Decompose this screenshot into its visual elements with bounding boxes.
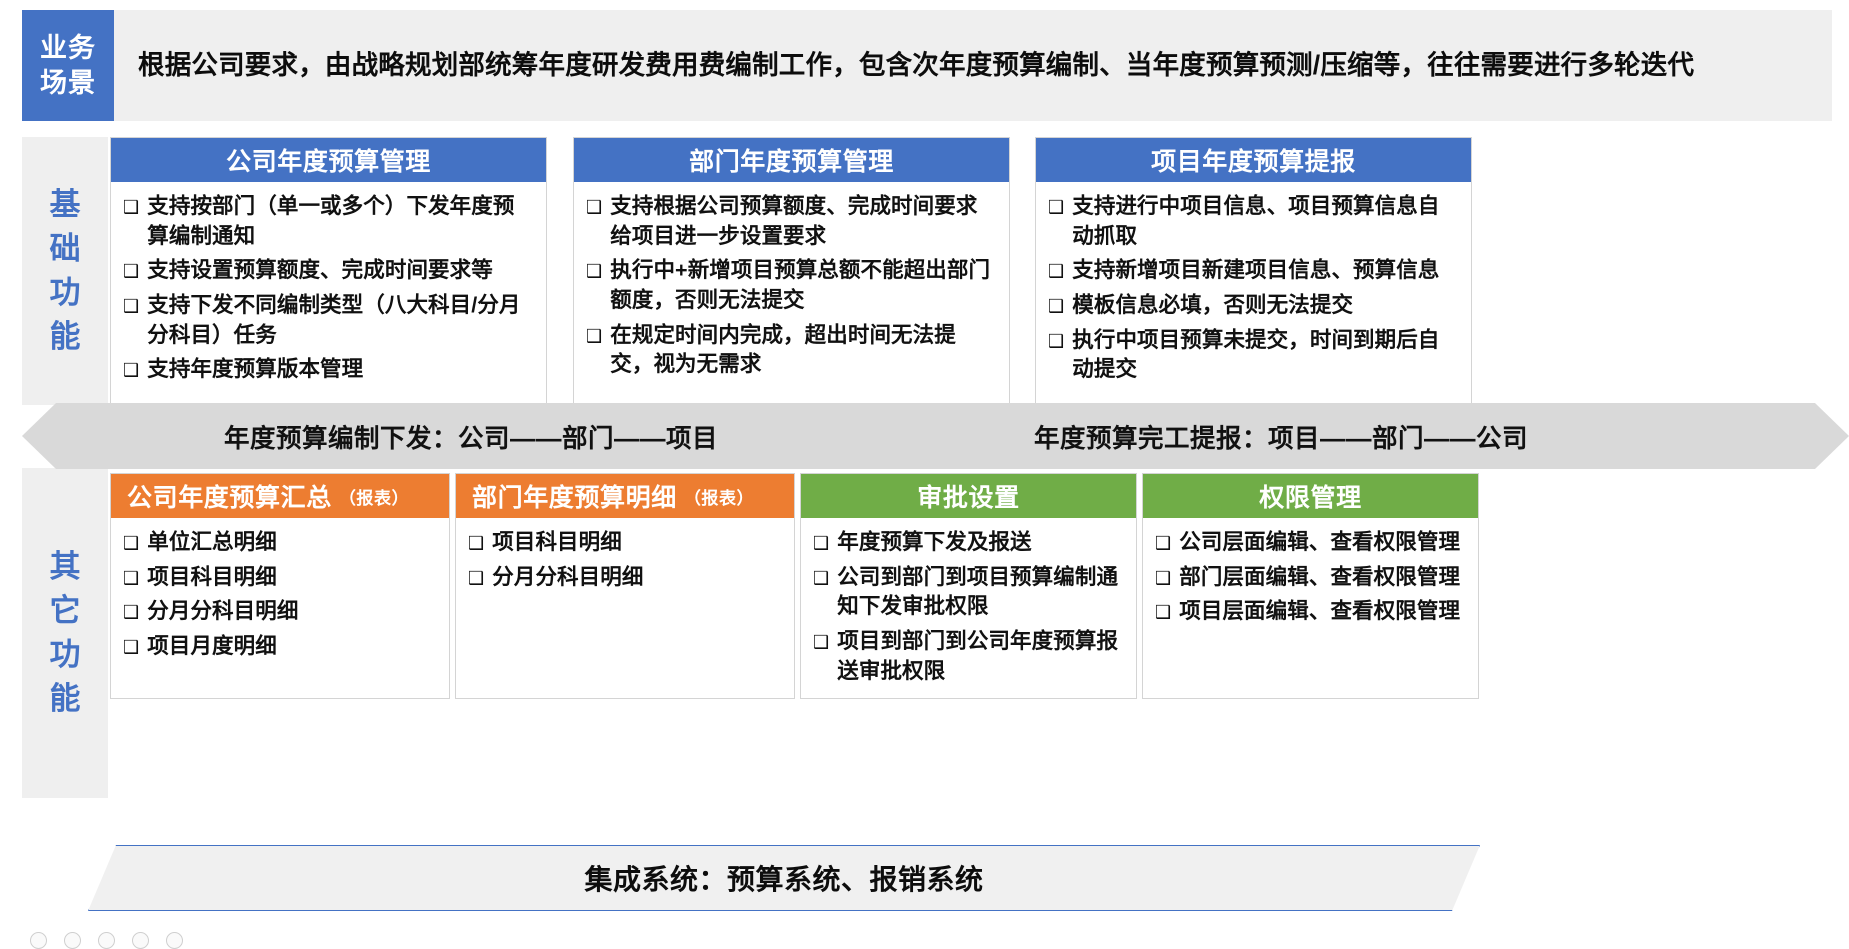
list-item-label: 项目到部门到公司年度预算报送审批权限	[837, 627, 1124, 686]
list-item: ❑ 年度预算下发及报送	[813, 528, 1124, 558]
rail-basic-char-2: 功	[50, 271, 81, 315]
scenario-description: 根据公司要求，由战略规划部统筹年度研发费用费编制工作，包含次年度预算编制、当年度…	[114, 10, 1832, 121]
checkbox-icon: ❑	[1048, 258, 1064, 285]
checkbox-icon: ❑	[468, 530, 484, 557]
checkbox-icon: ❑	[123, 194, 139, 221]
card-project-title: 项目年度预算提报	[1036, 138, 1471, 182]
checkbox-icon: ❑	[468, 565, 484, 592]
banner-label: 集成系统：预算系统、报销系统	[88, 845, 1480, 911]
list-item: ❑ 支持新增项目新建项目信息、预算信息	[1048, 256, 1459, 286]
list-item-label: 公司到部门到项目预算编制通知下发审批权限	[837, 563, 1124, 622]
scenario-tag-line2: 场景	[40, 66, 96, 101]
list-item-label: 分月分科目明细	[147, 597, 437, 627]
rail-basic-char-3: 能	[50, 315, 81, 359]
rail-other-char-1: 它	[50, 589, 81, 633]
checkbox-icon: ❑	[586, 323, 602, 350]
list-item-label: 支持按部门（单一或多个）下发年度预算编制通知	[147, 192, 534, 251]
list-item: ❑ 执行中项目预算未提交，时间到期后自动提交	[1048, 326, 1459, 385]
process-flow-arrow-band: 年度预算编制下发：公司——部门——项目 年度预算完工提报：项目——部门——公司	[22, 403, 1849, 469]
card-permission-management: 权限管理 ❑ 公司层面编辑、查看权限管理 ❑ 部门层面编辑、查看权限管理 ❑ 项…	[1142, 473, 1479, 699]
decorative-dot	[98, 932, 115, 949]
card-company-report-title: 公司年度预算汇总	[127, 478, 332, 514]
list-item: ❑ 单位汇总明细	[123, 528, 437, 558]
card-department-title: 部门年度预算管理	[574, 138, 1009, 182]
rail-other-functions: 其 它 功 能	[22, 468, 108, 798]
arrow-label-upstream: 年度预算完工提报：项目——部门——公司	[1034, 403, 1528, 469]
card-company-budget-summary-report: 公司年度预算汇总 （报表） ❑ 单位汇总明细 ❑ 项目科目明细 ❑ 分月分科目明…	[110, 473, 450, 699]
list-item: ❑ 分月分科目明细	[468, 563, 782, 593]
checkbox-icon: ❑	[813, 565, 829, 592]
list-item: ❑ 项目科目明细	[123, 563, 437, 593]
checkbox-icon: ❑	[1155, 599, 1171, 626]
list-item-label: 支持设置预算额度、完成时间要求等	[147, 256, 534, 286]
arrow-label-downstream: 年度预算编制下发：公司——部门——项目	[224, 403, 718, 469]
checkbox-icon: ❑	[1155, 565, 1171, 592]
list-item-label: 部门层面编辑、查看权限管理	[1179, 563, 1466, 593]
list-item: ❑ 支持年度预算版本管理	[123, 355, 534, 385]
list-item: ❑ 公司层面编辑、查看权限管理	[1155, 528, 1466, 558]
list-item: ❑ 模板信息必填，否则无法提交	[1048, 291, 1459, 321]
decorative-dot	[30, 932, 47, 949]
list-item-label: 单位汇总明细	[147, 528, 437, 558]
card-approval-settings: 审批设置 ❑ 年度预算下发及报送 ❑ 公司到部门到项目预算编制通知下发审批权限 …	[800, 473, 1137, 699]
list-item: ❑ 支持进行中项目信息、项目预算信息自动抓取	[1048, 192, 1459, 251]
list-item: ❑ 支持按部门（单一或多个）下发年度预算编制通知	[123, 192, 534, 251]
card-project-bullet-list: ❑ 支持进行中项目信息、项目预算信息自动抓取 ❑ 支持新增项目新建项目信息、预算…	[1036, 182, 1471, 404]
decorative-dots	[30, 932, 183, 949]
card-department-report-bullet-list: ❑ 项目科目明细 ❑ 分月分科目明细	[456, 518, 794, 698]
scenario-tag-line1: 业务	[40, 31, 96, 66]
list-item: ❑ 公司到部门到项目预算编制通知下发审批权限	[813, 563, 1124, 622]
list-item: ❑ 项目到部门到公司年度预算报送审批权限	[813, 627, 1124, 686]
list-item: ❑ 支持根据公司预算额度、完成时间要求给项目进一步设置要求	[586, 192, 997, 251]
list-item: ❑ 分月分科目明细	[123, 597, 437, 627]
list-item-label: 分月分科目明细	[492, 563, 782, 593]
card-company-report-title-bar: 公司年度预算汇总 （报表）	[111, 474, 449, 518]
rail-other-char-2: 功	[50, 633, 81, 677]
list-item: ❑ 部门层面编辑、查看权限管理	[1155, 563, 1466, 593]
card-company-report-bullet-list: ❑ 单位汇总明细 ❑ 项目科目明细 ❑ 分月分科目明细 ❑ 项目月度明细	[111, 518, 449, 698]
checkbox-icon: ❑	[1048, 194, 1064, 221]
rail-other-char-0: 其	[50, 545, 81, 589]
list-item-label: 项目层面编辑、查看权限管理	[1179, 597, 1466, 627]
scenario-tag: 业务 场景	[22, 10, 114, 121]
card-company-report-subtitle: （报表）	[339, 484, 409, 509]
checkbox-icon: ❑	[123, 599, 139, 626]
card-company-title: 公司年度预算管理	[111, 138, 546, 182]
decorative-dot	[132, 932, 149, 949]
card-permission-title: 权限管理	[1143, 474, 1478, 518]
card-permission-bullet-list: ❑ 公司层面编辑、查看权限管理 ❑ 部门层面编辑、查看权限管理 ❑ 项目层面编辑…	[1143, 518, 1478, 698]
rail-basic-functions: 基 础 功 能	[22, 137, 108, 405]
checkbox-icon: ❑	[1155, 530, 1171, 557]
checkbox-icon: ❑	[1048, 328, 1064, 355]
rail-other-char-3: 能	[50, 677, 81, 721]
list-item-label: 在规定时间内完成，超出时间无法提交，视为无需求	[610, 321, 997, 380]
integrated-systems-banner: 集成系统：预算系统、报销系统	[88, 845, 1480, 911]
checkbox-icon: ❑	[123, 530, 139, 557]
list-item-label: 支持下发不同编制类型（八大科目/分月分科目）任务	[147, 291, 534, 350]
checkbox-icon: ❑	[813, 530, 829, 557]
checkbox-icon: ❑	[586, 258, 602, 285]
list-item: ❑ 项目月度明细	[123, 632, 437, 662]
card-department-report-title-bar: 部门年度预算明细 （报表）	[456, 474, 794, 518]
card-company-bullet-list: ❑ 支持按部门（单一或多个）下发年度预算编制通知 ❑ 支持设置预算额度、完成时间…	[111, 182, 546, 404]
list-item: ❑ 执行中+新增项目预算总额不能超出部门额度，否则无法提交	[586, 256, 997, 315]
checkbox-icon: ❑	[586, 194, 602, 221]
checkbox-icon: ❑	[123, 258, 139, 285]
card-department-report-title: 部门年度预算明细	[472, 478, 677, 514]
checkbox-icon: ❑	[813, 629, 829, 656]
slide-canvas: 业务 场景 根据公司要求，由战略规划部统筹年度研发费用费编制工作，包含次年度预算…	[0, 0, 1849, 944]
list-item-label: 支持新增项目新建项目信息、预算信息	[1072, 256, 1459, 286]
rail-basic-char-1: 础	[50, 227, 81, 271]
card-approval-title: 审批设置	[801, 474, 1136, 518]
decorative-dot	[166, 932, 183, 949]
card-department-annual-budget-management: 部门年度预算管理 ❑ 支持根据公司预算额度、完成时间要求给项目进一步设置要求 ❑…	[573, 137, 1010, 405]
list-item-label: 项目月度明细	[147, 632, 437, 662]
list-item-label: 支持进行中项目信息、项目预算信息自动抓取	[1072, 192, 1459, 251]
list-item-label: 项目科目明细	[492, 528, 782, 558]
list-item-label: 公司层面编辑、查看权限管理	[1179, 528, 1466, 558]
list-item-label: 执行中+新增项目预算总额不能超出部门额度，否则无法提交	[610, 256, 997, 315]
decorative-dot	[64, 932, 81, 949]
rail-basic-char-0: 基	[50, 183, 81, 227]
list-item: ❑ 在规定时间内完成，超出时间无法提交，视为无需求	[586, 321, 997, 380]
list-item-label: 模板信息必填，否则无法提交	[1072, 291, 1459, 321]
card-department-budget-detail-report: 部门年度预算明细 （报表） ❑ 项目科目明细 ❑ 分月分科目明细	[455, 473, 795, 699]
list-item-label: 年度预算下发及报送	[837, 528, 1124, 558]
list-item: ❑ 项目科目明细	[468, 528, 782, 558]
checkbox-icon: ❑	[123, 357, 139, 384]
card-project-annual-budget-submission: 项目年度预算提报 ❑ 支持进行中项目信息、项目预算信息自动抓取 ❑ 支持新增项目…	[1035, 137, 1472, 405]
card-approval-bullet-list: ❑ 年度预算下发及报送 ❑ 公司到部门到项目预算编制通知下发审批权限 ❑ 项目到…	[801, 518, 1136, 699]
list-item: ❑ 支持下发不同编制类型（八大科目/分月分科目）任务	[123, 291, 534, 350]
list-item-label: 执行中项目预算未提交，时间到期后自动提交	[1072, 326, 1459, 385]
business-scenario-header: 业务 场景 根据公司要求，由战略规划部统筹年度研发费用费编制工作，包含次年度预算…	[22, 10, 1832, 121]
list-item: ❑ 支持设置预算额度、完成时间要求等	[123, 256, 534, 286]
card-department-report-subtitle: （报表）	[684, 484, 754, 509]
checkbox-icon: ❑	[1048, 293, 1064, 320]
list-item-label: 项目科目明细	[147, 563, 437, 593]
checkbox-icon: ❑	[123, 565, 139, 592]
card-company-annual-budget-management: 公司年度预算管理 ❑ 支持按部门（单一或多个）下发年度预算编制通知 ❑ 支持设置…	[110, 137, 547, 405]
list-item-label: 支持根据公司预算额度、完成时间要求给项目进一步设置要求	[610, 192, 997, 251]
card-department-bullet-list: ❑ 支持根据公司预算额度、完成时间要求给项目进一步设置要求 ❑ 执行中+新增项目…	[574, 182, 1009, 404]
list-item-label: 支持年度预算版本管理	[147, 355, 534, 385]
checkbox-icon: ❑	[123, 634, 139, 661]
list-item: ❑ 项目层面编辑、查看权限管理	[1155, 597, 1466, 627]
checkbox-icon: ❑	[123, 293, 139, 320]
